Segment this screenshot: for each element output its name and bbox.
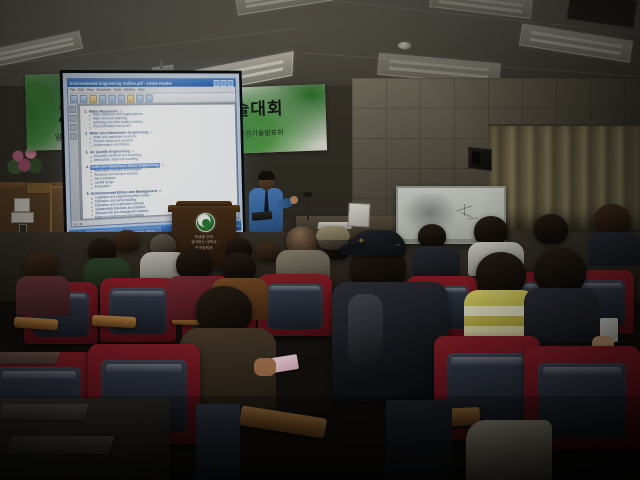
- speaker-hair: [258, 171, 275, 180]
- save-icon[interactable]: [89, 94, 97, 102]
- zoom-out-icon[interactable]: [99, 94, 107, 102]
- subitem-number: c.: [90, 144, 92, 148]
- black-baseball-cap: ◈ ▪▪▪: [350, 230, 406, 256]
- subitem-number: b.: [90, 159, 93, 163]
- section-number: 5.: [87, 192, 90, 196]
- section-page: 18: [150, 131, 153, 135]
- bookmarks-icon[interactable]: [69, 106, 76, 113]
- seat-armrest: [92, 315, 137, 328]
- zoom-in-icon[interactable]: [108, 94, 116, 102]
- menu-item-edit[interactable]: Edit: [78, 88, 84, 92]
- pages-icon[interactable]: [70, 115, 77, 122]
- attachments-icon[interactable]: [70, 124, 77, 131]
- attendee-torso: [16, 276, 70, 316]
- subitem-number: f.: [92, 216, 94, 218]
- wall-outlet-panel[interactable]: [11, 212, 34, 223]
- outline-section: 3. Air Quality Engineering 24 a.Air qual…: [85, 147, 231, 163]
- menu-item-help[interactable]: Help: [138, 88, 145, 92]
- menu-item-document[interactable]: Document: [96, 88, 111, 92]
- section-number: 4.: [86, 166, 89, 170]
- menu-item-tools[interactable]: Tools: [114, 88, 122, 92]
- ceiling-light-fixture: [235, 0, 333, 15]
- laptop-screen: [347, 202, 370, 227]
- auditorium-photo: 2 일시 술대회 환경기술발표회 Environmental Engineeri…: [0, 0, 640, 480]
- subitem-text: Flood estimation and control: [93, 125, 131, 130]
- attendee-head: [418, 224, 446, 248]
- attendee-torso: [412, 246, 460, 276]
- section-page: 39: [158, 189, 161, 193]
- subitem-text: Atmospheric dispersion modeling: [94, 158, 138, 163]
- menu-item-view[interactable]: View: [86, 88, 93, 92]
- outline-section: 2. Water and Wastewater Engineering 18 a…: [85, 129, 231, 148]
- beige-cap-icon: [316, 226, 350, 240]
- ceiling-light-fixture: [0, 31, 83, 68]
- subitem-text: Incineration: [95, 185, 111, 190]
- university-seal-icon: [196, 213, 215, 232]
- highlight-icon[interactable]: [127, 94, 135, 102]
- wall-switch-panel[interactable]: [14, 198, 30, 212]
- section-page: 31: [161, 163, 164, 167]
- attendee-head: [534, 214, 568, 244]
- attendee-torso: [524, 288, 598, 342]
- menu-item-file[interactable]: File: [70, 88, 75, 92]
- black-jacket: [332, 282, 448, 402]
- page-indicator: 23 / 48: [73, 221, 82, 225]
- window-title-text: Environmental Engineering Outline.pdf - …: [70, 80, 172, 85]
- cap-logo-icon: ◈: [359, 237, 364, 244]
- subitem-number: d.: [89, 125, 92, 129]
- attendee-head: [114, 230, 140, 252]
- speaker-hand: [290, 196, 298, 204]
- attendee-torso: [588, 232, 640, 266]
- projector-mount-pole: [160, 60, 163, 69]
- section-number: 1.: [84, 109, 87, 113]
- subitem-number: e.: [91, 186, 94, 190]
- print-icon[interactable]: [80, 94, 88, 102]
- open-icon[interactable]: [70, 94, 78, 102]
- section-number: 2.: [85, 132, 88, 136]
- page-fit-icon[interactable]: [145, 94, 152, 102]
- comments-icon[interactable]: [70, 133, 77, 140]
- outline-section-highlighted: 4. Solid and Hazardous Waste Engineering…: [86, 161, 232, 190]
- menu-item-window[interactable]: Window: [124, 88, 135, 92]
- section-number: 3.: [85, 151, 88, 155]
- subitem-text: Sedimentation and filtration: [93, 143, 129, 148]
- ceiling-vent: [566, 0, 637, 29]
- microphone-stand: [307, 196, 309, 220]
- ceiling-light-fixture: [519, 23, 633, 62]
- attendee-hand: [254, 358, 276, 376]
- auditorium-seat[interactable]: [100, 278, 176, 342]
- search-icon[interactable]: [118, 94, 126, 102]
- window-controls[interactable]: [213, 80, 233, 87]
- microphone-icon: [303, 192, 312, 197]
- seat-armrest: [14, 316, 59, 330]
- select-icon[interactable]: [136, 94, 144, 102]
- aisle-step: [0, 352, 60, 364]
- attendee-head: [196, 286, 252, 334]
- auditorium-seat[interactable]: [258, 274, 332, 336]
- smoke-detector: [398, 42, 411, 49]
- wall-speaker: [468, 147, 492, 172]
- cap-side-text: ▪▪▪: [395, 242, 401, 247]
- outline-section: 1. Water Resources 12 a.Water distributi…: [84, 108, 230, 130]
